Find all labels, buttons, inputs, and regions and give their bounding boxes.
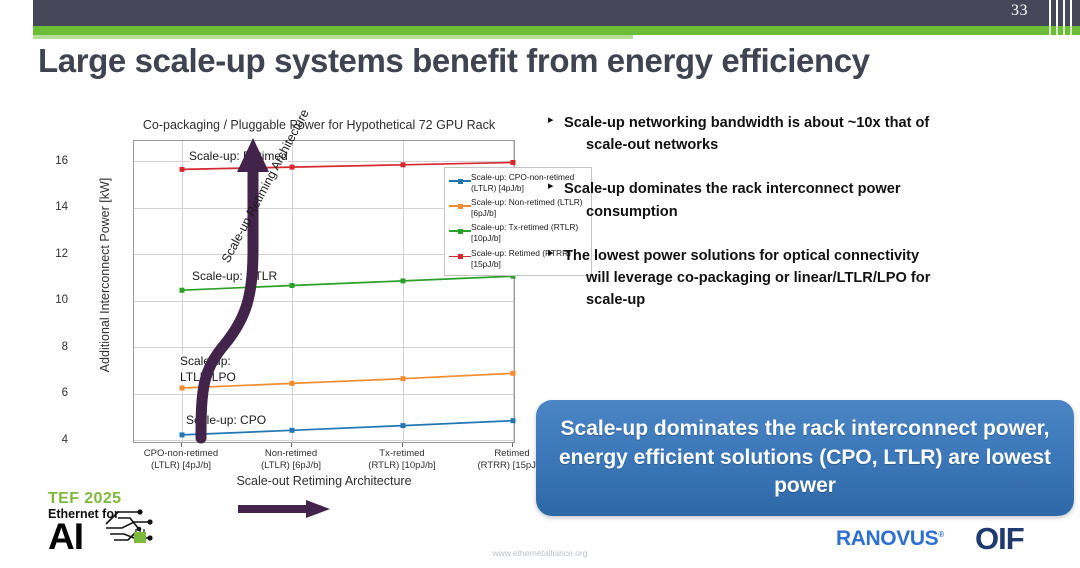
bullet-item: ▸ Scale-up networking bandwidth is about… — [548, 112, 1048, 156]
bullet-line-1: The lowest power solutions for optical c… — [564, 248, 919, 264]
bullet-text: Scale-up networking bandwidth is about ~… — [564, 112, 929, 156]
triangle-right-icon: ▸ — [548, 245, 564, 312]
bullet-list: ▸ Scale-up networking bandwidth is about… — [548, 112, 1048, 333]
legend-label-line1: Scale-up: Non-retimed — [471, 197, 555, 207]
bullet-text: Scale-up dominates the rack interconnect… — [564, 178, 901, 222]
header-tick-green — [1049, 26, 1051, 35]
y-tick-label: 10 — [38, 294, 68, 306]
legend-label-line2: (LTLR) [4pJ/b] — [471, 183, 524, 193]
page-title: Large scale-up systems benefit from ener… — [38, 42, 1048, 80]
header-tick-green — [1070, 26, 1072, 35]
header-accent-stripe-light — [33, 35, 633, 39]
chart-y-axis-label: Additional Interconnect Power [kW] — [98, 150, 112, 400]
summary-callout-text: Scale-up dominates the rack interconnect… — [550, 415, 1060, 502]
x-tick-label-line1: Retimed — [494, 448, 529, 459]
ranovus-logo: RANOVUS® — [836, 527, 944, 551]
header-bar: 33 — [33, 0, 1080, 26]
y-tick-label: 4 — [38, 434, 68, 446]
bullet-line-1: Scale-up dominates the rack interconnect… — [564, 181, 901, 197]
oif-logo: OIF — [975, 521, 1024, 557]
bullet-text: The lowest power solutions for optical c… — [564, 245, 930, 312]
legend-swatch-tx-retimed — [449, 225, 471, 237]
x-tick-mark — [512, 443, 513, 447]
bullet-line-2: will leverage co-packaging or linear/LTL… — [564, 267, 930, 289]
bullet-item: ▸ Scale-up dominates the rack interconne… — [548, 178, 1048, 222]
circuit-traces-icon — [104, 504, 162, 546]
x-tick-label-line2: (LTLR) [4pJ/b] — [151, 460, 211, 471]
ranovus-logo-text: RANOVUS — [836, 527, 938, 550]
chart-x-axis-label: Scale-out Retiming Architecture — [133, 474, 515, 488]
x-tick-mark — [181, 443, 182, 447]
chart-title: Co-packaging / Pluggable Power for Hypot… — [104, 118, 534, 132]
legend-swatch-cpo-non-retimed — [449, 175, 471, 187]
y-tick-label: 12 — [38, 248, 68, 260]
x-tick-label-line2: (RTLR) [10pJ/b] — [368, 460, 435, 471]
legend-label-line1: Scale-up: Retimed — [471, 248, 540, 258]
bullet-item: ▸ The lowest power solutions for optical… — [548, 245, 1048, 312]
page-number: 33 — [1011, 2, 1028, 20]
header-tick-green — [1056, 26, 1058, 35]
scale-up-retiming-arrow-icon — [183, 120, 303, 450]
x-tick-label-line1: Tx-retimed — [379, 448, 424, 459]
bullet-line-1: Scale-up networking bandwidth is about ~… — [564, 115, 929, 131]
bullet-line-2: scale-out networks — [564, 134, 929, 156]
legend-swatch-retimed — [449, 251, 471, 263]
y-tick-label: 8 — [38, 341, 68, 353]
legend-swatch-non-retimed — [449, 200, 471, 212]
header-accent-stripe — [33, 26, 1080, 35]
legend-label-line1: Scale-up: Tx-retimed — [471, 222, 549, 232]
x-tick-label-line2: (LTLR) [6pJ/b] — [261, 460, 321, 471]
header-tick-green — [1063, 26, 1065, 35]
x-tick-mark — [402, 443, 403, 447]
bullet-line-3: scale-up — [564, 289, 930, 311]
triangle-right-icon: ▸ — [548, 178, 564, 222]
y-tick-label: 6 — [38, 387, 68, 399]
summary-callout-box: Scale-up dominates the rack interconnect… — [536, 400, 1074, 516]
registered-mark-icon: ® — [938, 530, 944, 539]
y-tick-label: 16 — [38, 155, 68, 167]
bullet-line-2: consumption — [564, 201, 901, 223]
triangle-right-icon: ▸ — [548, 112, 564, 156]
scale-out-direction-arrow-icon — [238, 498, 333, 520]
y-tick-label: 14 — [38, 201, 68, 213]
